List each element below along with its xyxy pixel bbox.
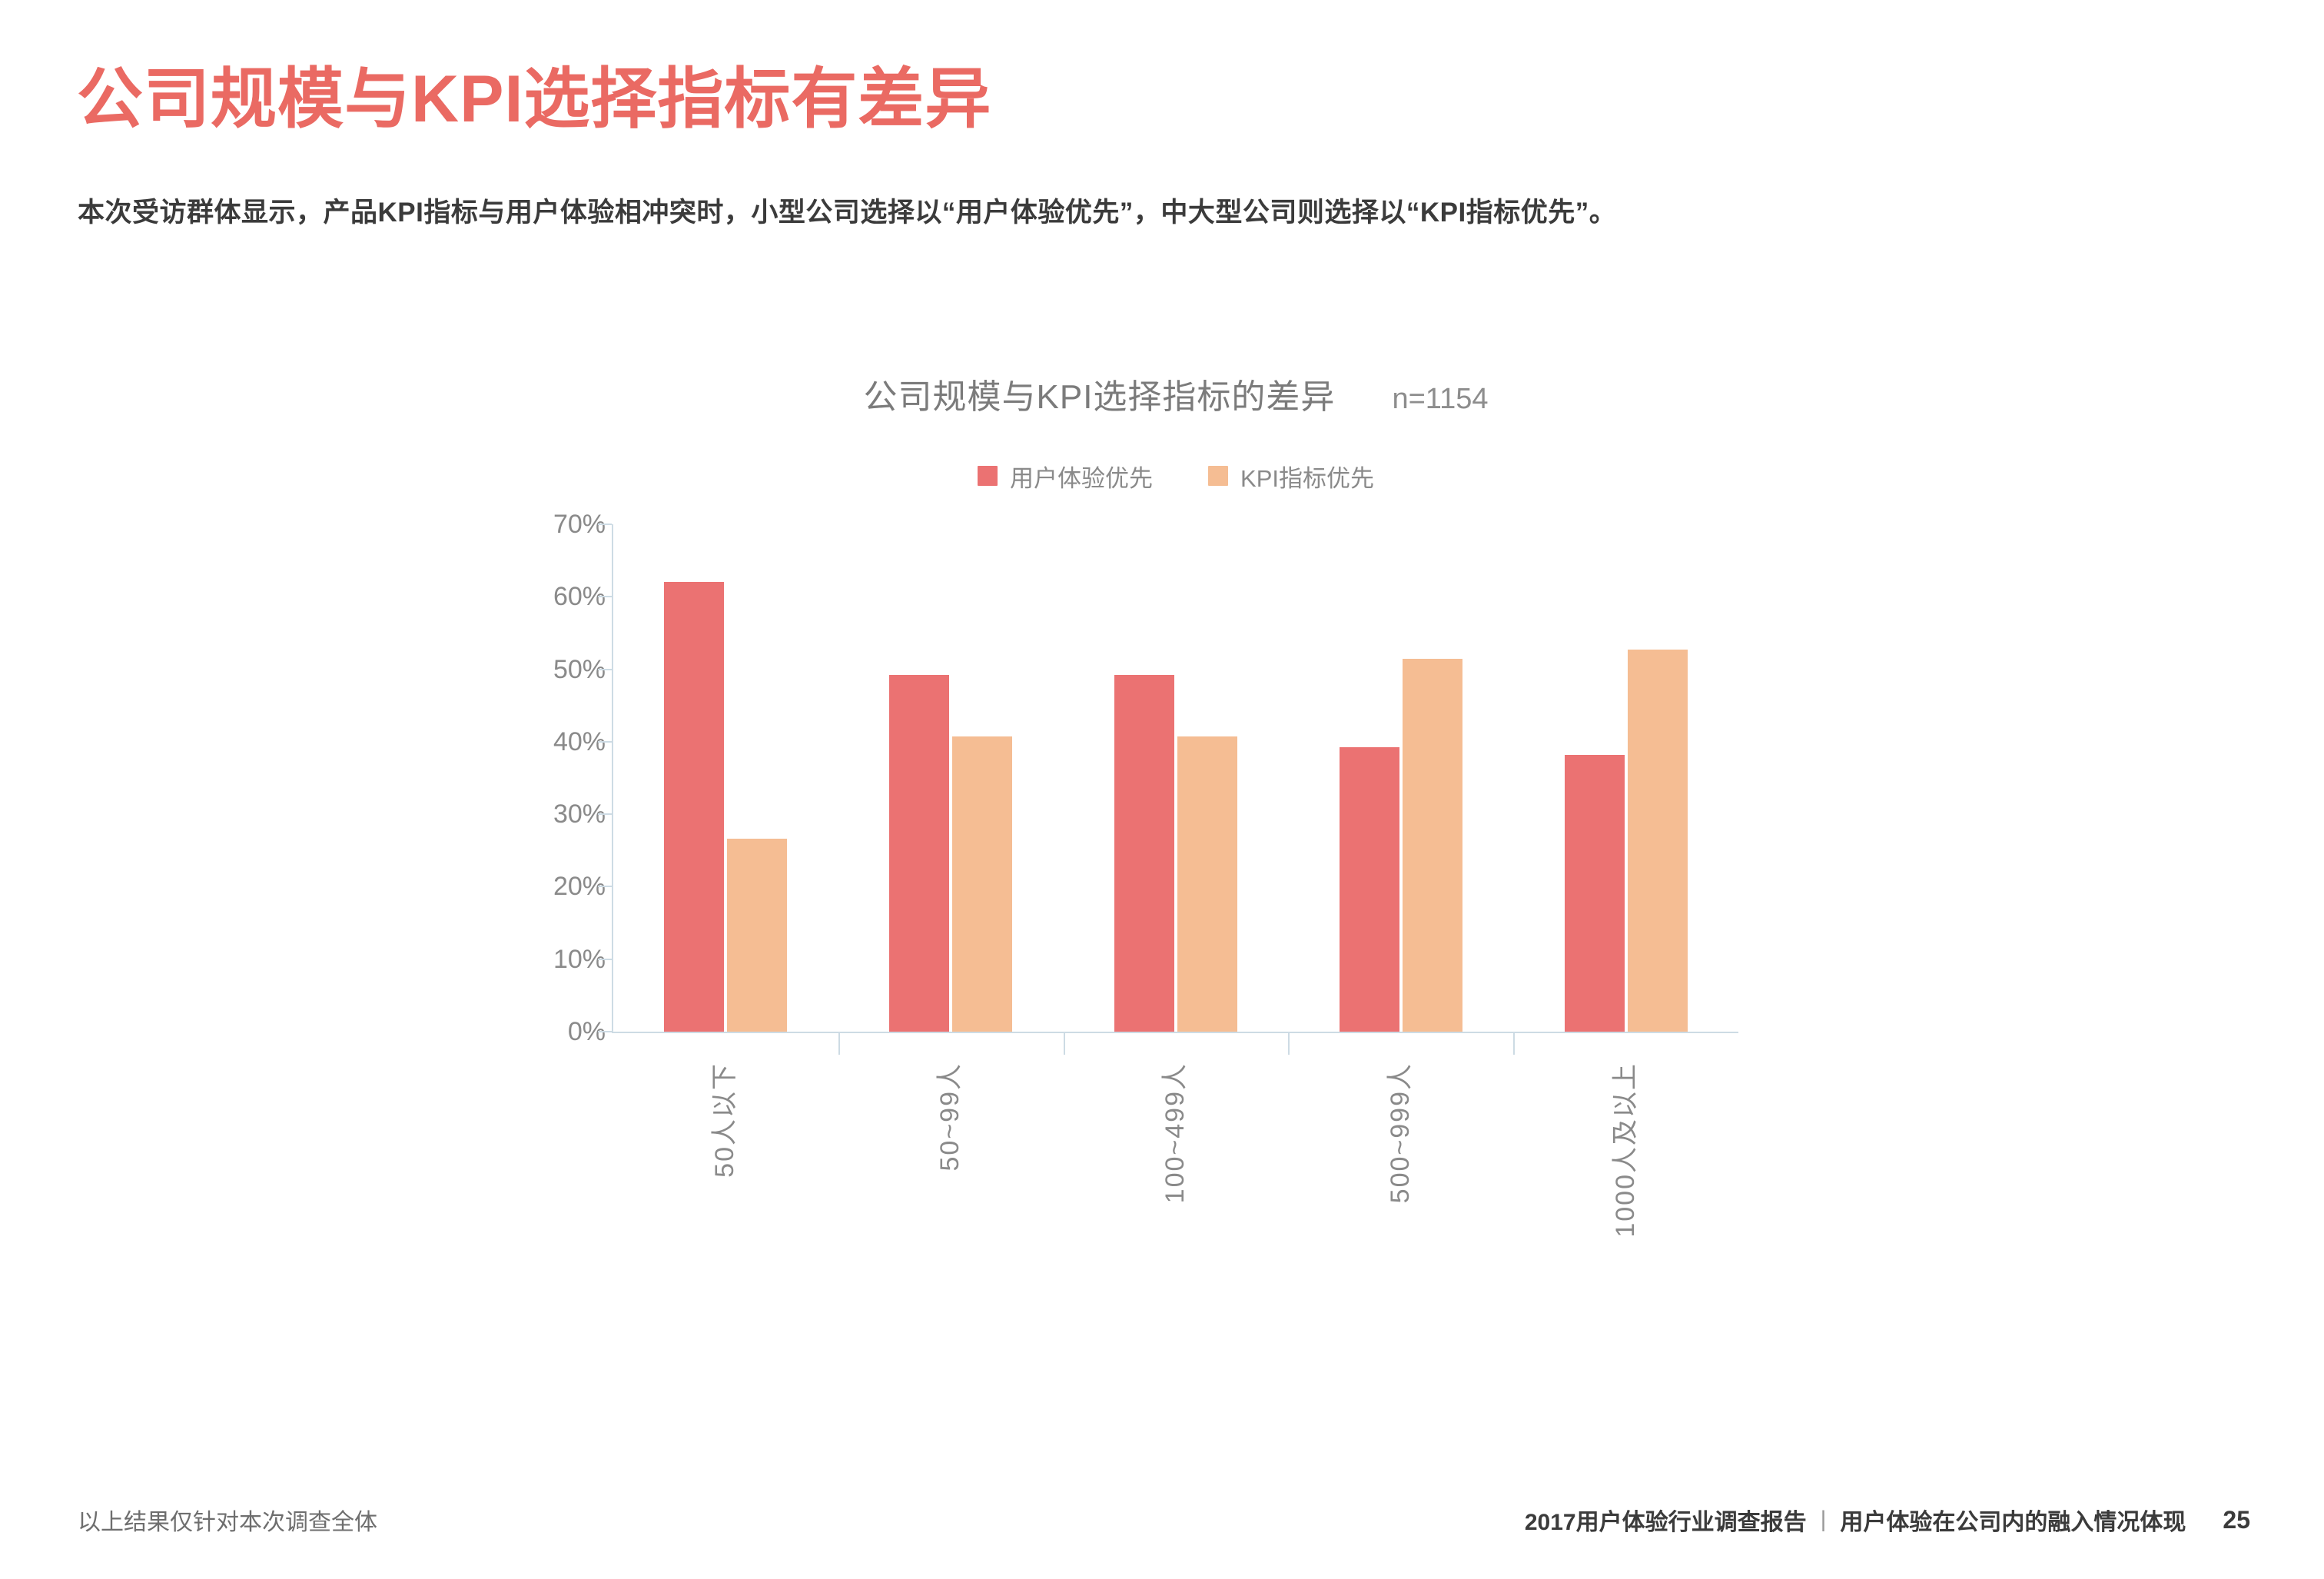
bar-group (838, 524, 1064, 1032)
bar-group (1513, 524, 1738, 1032)
bar-group (1064, 524, 1289, 1032)
x-axis-category-labels: 50人以下50~99人100~499人500~999人1000人及以上 (613, 1062, 1738, 1431)
legend-label: KPI指标优先 (1240, 459, 1374, 494)
y-tick-mark (598, 741, 612, 743)
bar[interactable] (1340, 747, 1399, 1032)
bars-area (613, 524, 1738, 1032)
bar[interactable] (952, 736, 1012, 1032)
bar[interactable] (1114, 675, 1174, 1032)
footer-divider: | (1821, 1507, 1827, 1533)
footer-note: 以上结果仅针对本次调查全体 (78, 1503, 377, 1537)
chart-container: 公司规模与KPI选择指标的差异 n=1154 用户体验优先 KPI指标优先 70… (507, 369, 1844, 1307)
footer-meta: 2017用户体验行业调查报告 | 用户体验在公司内的融入情况体现 25 (1525, 1503, 2250, 1537)
bar[interactable] (1403, 659, 1462, 1032)
page-subtitle: 本次受访群体显示，产品KPI指标与用户体验相冲突时，小型公司选择以“用户体验优先… (78, 191, 1616, 230)
bar[interactable] (1628, 650, 1688, 1032)
bar[interactable] (889, 675, 949, 1032)
x-tick-label: 1000人及以上 (1612, 1062, 1638, 1238)
bar[interactable] (727, 839, 787, 1032)
footer-report-title: 2017用户体验行业调查报告 (1525, 1503, 1807, 1537)
y-axis: 70%60%50%40%30%20%10%0% (507, 524, 606, 1032)
bar[interactable] (1565, 755, 1625, 1032)
legend-swatch-icon (1208, 466, 1228, 486)
legend-item-kpi[interactable]: KPI指标优先 (1208, 459, 1374, 494)
x-tick-label: 100~499人 (1162, 1062, 1188, 1203)
y-tick-mark (598, 1031, 612, 1032)
chart-legend: 用户体验优先 KPI指标优先 (507, 460, 1844, 492)
category-separator (1064, 1032, 1065, 1055)
legend-swatch-icon (978, 466, 998, 486)
chart-header: 公司规模与KPI选择指标的差异 n=1154 (507, 369, 1844, 423)
category-separator (1513, 1032, 1515, 1055)
bar[interactable] (1177, 736, 1237, 1032)
x-axis-line (612, 1032, 1738, 1033)
chart-title: 公司规模与KPI选择指标的差异 (864, 369, 1336, 418)
page-title: 公司规模与KPI选择指标有差异 (77, 45, 991, 141)
legend-item-user-experience[interactable]: 用户体验优先 (978, 459, 1153, 494)
chart-sample-size: n=1154 (1392, 383, 1488, 416)
y-tick-mark (598, 596, 612, 597)
x-tick-label: 50~99人 (937, 1062, 963, 1172)
y-tick-mark (598, 959, 612, 960)
legend-label: 用户体验优先 (1010, 459, 1153, 494)
plot-area-wrapper: 70%60%50%40%30%20%10%0% 50人以下50~99人100~4… (507, 524, 1844, 1062)
y-tick-mark (598, 813, 612, 815)
slide-root: 公司规模与KPI选择指标有差异 本次受访群体显示，产品KPI指标与用户体验相冲突… (0, 0, 2324, 1579)
bar[interactable] (664, 582, 724, 1032)
footer-page-number: 25 (2223, 1506, 2250, 1534)
bar-group (613, 524, 838, 1032)
y-tick-mark (598, 886, 612, 887)
category-separator (1288, 1032, 1290, 1055)
y-tick-mark (598, 669, 612, 670)
x-tick-label: 50人以下 (712, 1062, 738, 1178)
bar-group (1288, 524, 1513, 1032)
category-separator (838, 1032, 840, 1055)
y-tick-mark (598, 524, 612, 525)
x-tick-label: 500~999人 (1387, 1062, 1413, 1203)
footer-section-title: 用户体验在公司内的融入情况体现 (1840, 1503, 2186, 1537)
